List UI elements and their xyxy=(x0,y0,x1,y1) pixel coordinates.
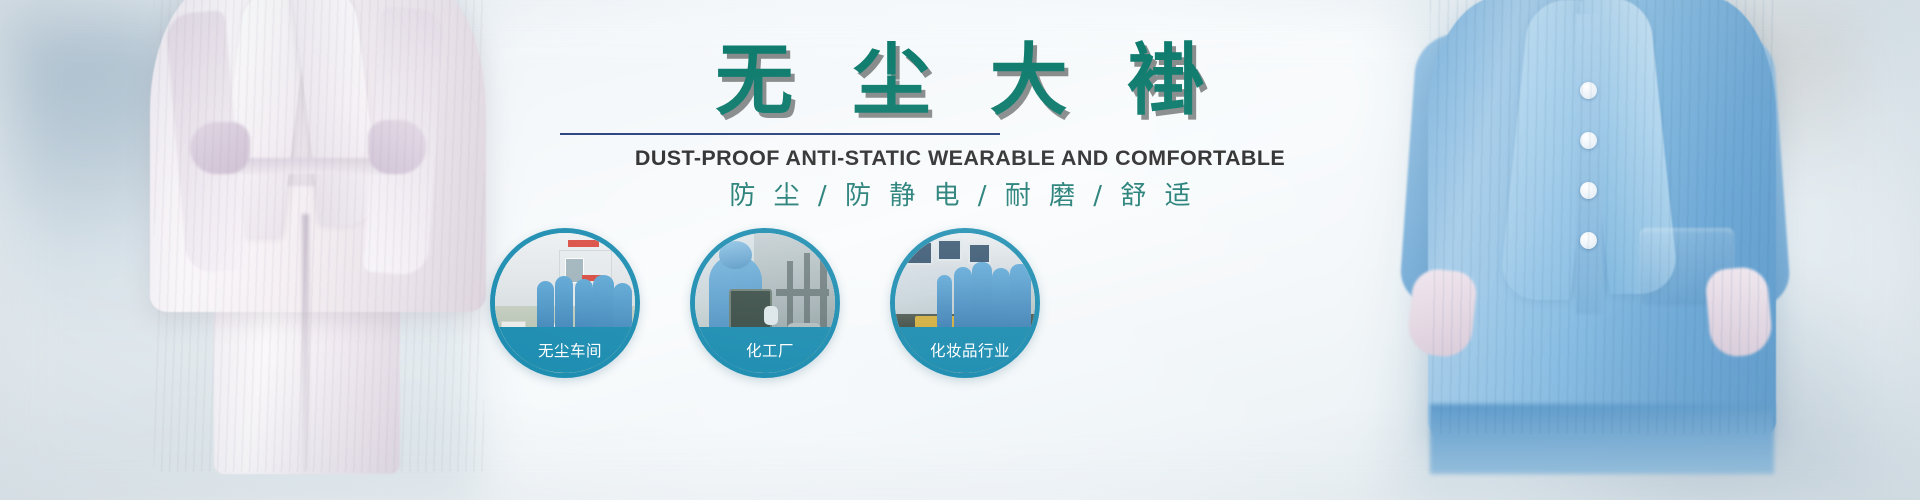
title-divider xyxy=(560,133,1000,135)
page-title: 无 尘 大 褂 xyxy=(0,38,1920,124)
badge-cleanroom-workshop[interactable]: 无尘车间 xyxy=(490,228,640,378)
badge-chemical-plant[interactable]: 化工厂 xyxy=(690,228,840,378)
product-hero-banner: 无 尘 大 褂 DUST-PROOF ANTI-STATIC WEARABLE … xyxy=(0,0,1920,500)
feature-tagline: 防 尘 / 防 静 电 / 耐 磨 / 舒 适 xyxy=(0,178,1920,214)
english-subtitle: DUST-PROOF ANTI-STATIC WEARABLE AND COMF… xyxy=(0,144,1920,172)
application-badges: 无尘车间 化工厂 xyxy=(490,228,1080,388)
badge-cosmetics-industry[interactable]: 化妆品行业 xyxy=(890,228,1040,378)
